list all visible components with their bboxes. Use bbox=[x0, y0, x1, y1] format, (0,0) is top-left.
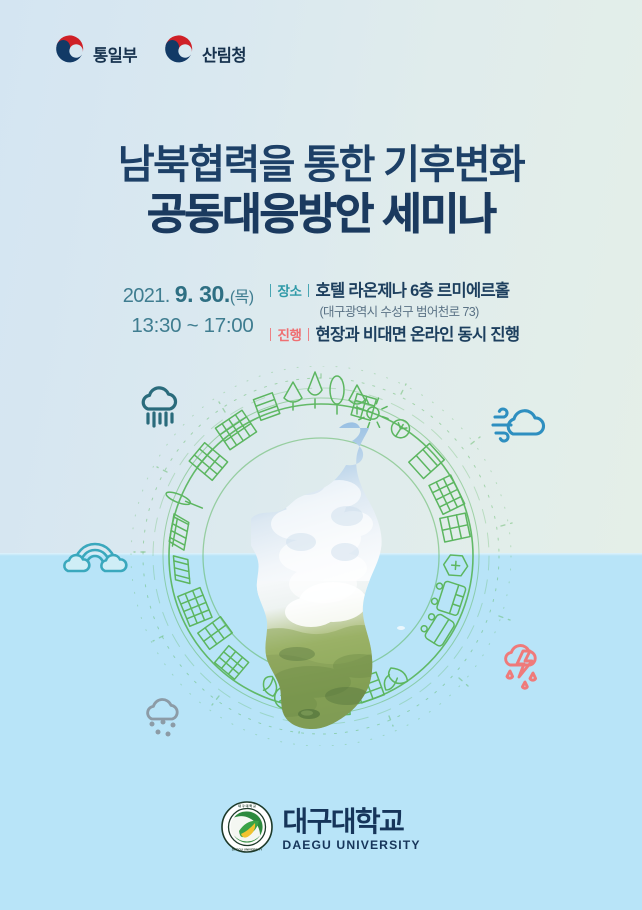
university-logo: 대 구 대 학 교 DAEGU UNIVERSITY 대구대학교 DAEGU U… bbox=[0, 801, 642, 858]
university-name-block: 대구대학교 DAEGU UNIVERSITY bbox=[282, 808, 420, 851]
event-info-block: 2021. 9. 30.(목) 13:30 ~ 17:00 장소 호텔 라온제나… bbox=[0, 279, 642, 346]
venue-value: 호텔 라온제나 6층 르미에르홀 bbox=[316, 280, 510, 302]
event-datetime: 2021. 9. 30.(목) 13:30 ~ 17:00 bbox=[123, 279, 254, 339]
org-name-forest: 산림청 bbox=[202, 42, 246, 66]
peninsula-graphic bbox=[101, 366, 541, 746]
poster-title: 남북협력을 통한 기후변화 공동대응방안 세미나 bbox=[0, 143, 642, 241]
poster-canvas: 통일부 산림청 남북협력을 통한 기후변화 공동대응방안 세미나 2021 bbox=[0, 0, 642, 910]
info-row-mode: 진행 현장과 비대면 온라인 동시 진행 bbox=[270, 324, 519, 346]
event-date: 2021. 9. 30.(목) bbox=[123, 280, 254, 310]
date-day: 9. 30. bbox=[175, 281, 230, 307]
date-year: 2021. bbox=[123, 285, 170, 307]
title-line-2: 공동대응방안 세미나 bbox=[0, 190, 642, 241]
government-logo-row: 통일부 산림청 bbox=[52, 34, 246, 73]
venue-tag: 장소 bbox=[270, 283, 308, 301]
org-name-unification: 통일부 bbox=[93, 42, 137, 66]
svg-text:대 구 대 학 교: 대 구 대 학 교 bbox=[239, 803, 257, 808]
mode-value: 현장과 비대면 온라인 동시 진행 bbox=[316, 324, 520, 346]
taegeuk-emblem-icon bbox=[161, 34, 195, 73]
university-seal-icon: 대 구 대 학 교 DAEGU UNIVERSITY bbox=[221, 801, 273, 858]
taegeuk-emblem-icon bbox=[52, 34, 86, 73]
org-logo-forest: 산림청 bbox=[161, 34, 246, 73]
university-name-kr: 대구대학교 bbox=[282, 808, 420, 836]
svg-text:DAEGU UNIVERSITY: DAEGU UNIVERSITY bbox=[232, 847, 264, 851]
org-logo-unification: 통일부 bbox=[52, 34, 137, 73]
mode-tag: 진행 bbox=[270, 327, 308, 345]
university-name-en: DAEGU UNIVERSITY bbox=[282, 839, 420, 851]
venue-address: (대구광역시 수성구 범어천로 73) bbox=[319, 304, 519, 320]
event-details: 장소 호텔 라온제나 6층 르미에르홀 (대구광역시 수성구 범어천로 73) … bbox=[270, 279, 519, 346]
title-line-1: 남북협력을 통한 기후변화 bbox=[0, 143, 642, 188]
date-weekday: (목) bbox=[230, 289, 254, 306]
info-row-venue: 장소 호텔 라온제나 6층 르미에르홀 bbox=[270, 280, 519, 302]
event-time: 13:30 ~ 17:00 bbox=[123, 313, 254, 340]
